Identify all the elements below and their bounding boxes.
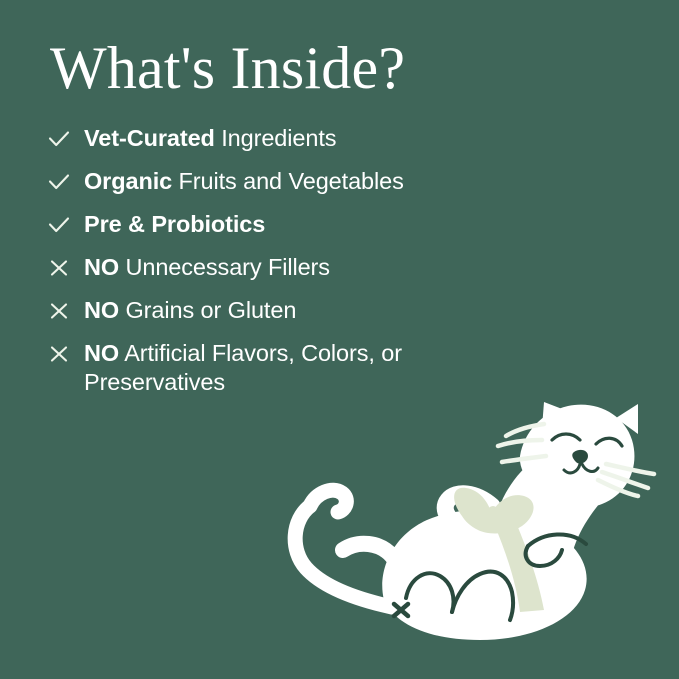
benefit-list: Vet-Curated Ingredients Organic Fruits a… xyxy=(46,124,606,410)
list-item: Organic Fruits and Vegetables xyxy=(46,167,606,196)
list-item-rest: Unnecessary Fillers xyxy=(119,254,330,280)
list-item-strong: NO xyxy=(84,340,119,366)
list-item-rest: Ingredients xyxy=(215,125,337,151)
list-item: NO Grains or Gluten xyxy=(46,296,606,325)
list-item: Vet-Curated Ingredients xyxy=(46,124,606,153)
page-title: What's Inside? xyxy=(50,36,405,100)
list-item: NO Artificial Flavors, Colors, or Preser… xyxy=(46,339,606,396)
list-item-text: Pre & Probiotics xyxy=(84,210,265,239)
list-item-strong: Pre & Probiotics xyxy=(84,211,265,237)
list-item-text: NO Unnecessary Fillers xyxy=(84,253,330,282)
list-item-strong: Organic xyxy=(84,168,172,194)
x-icon xyxy=(46,253,84,282)
list-item-text: Vet-Curated Ingredients xyxy=(84,124,336,153)
list-item-text: NO Artificial Flavors, Colors, or Preser… xyxy=(84,339,426,396)
list-item: Pre & Probiotics xyxy=(46,210,606,239)
check-icon xyxy=(46,124,84,153)
check-icon xyxy=(46,210,84,239)
check-icon xyxy=(46,167,84,196)
cat-illustration xyxy=(280,400,679,679)
list-item-rest: Grains or Gluten xyxy=(119,297,296,323)
list-item-strong: NO xyxy=(84,254,119,280)
list-item-rest: Artificial Flavors, Colors, or Preservat… xyxy=(84,340,402,395)
list-item-strong: Vet-Curated xyxy=(84,125,215,151)
list-item-rest: Fruits and Vegetables xyxy=(172,168,404,194)
x-icon xyxy=(46,296,84,325)
list-item-strong: NO xyxy=(84,297,119,323)
promo-card: What's Inside? Vet-Curated Ingredients O… xyxy=(0,0,679,679)
list-item: NO Unnecessary Fillers xyxy=(46,253,606,282)
x-icon xyxy=(46,339,84,368)
list-item-text: NO Grains or Gluten xyxy=(84,296,296,325)
list-item-text: Organic Fruits and Vegetables xyxy=(84,167,404,196)
